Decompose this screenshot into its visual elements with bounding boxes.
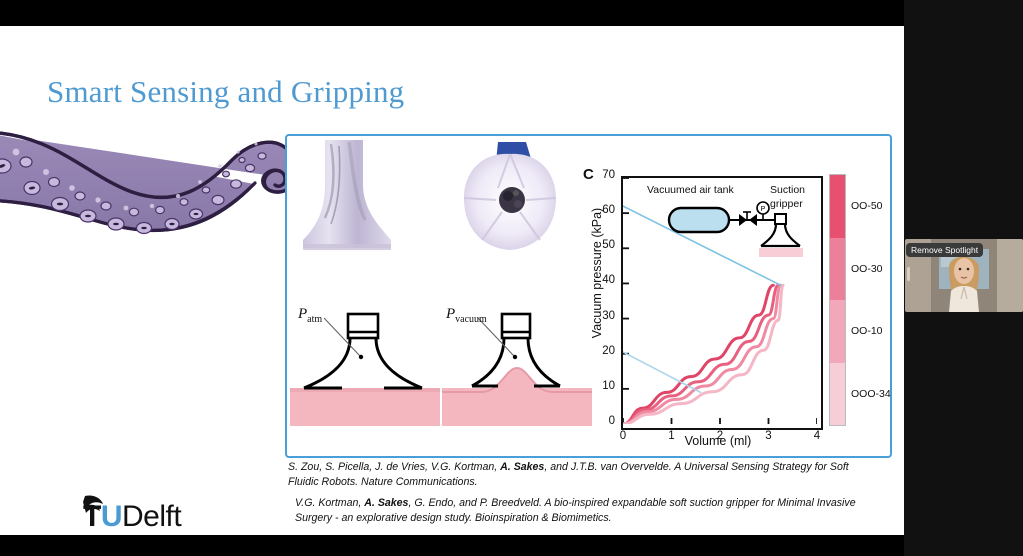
x-tick-label: 0 [616,430,630,442]
y-tick-label: 40 [595,274,615,286]
series-OO-50 [623,285,773,424]
y-tick-label: 70 [595,169,615,181]
citation-1: S. Zou, S. Picella, J. de Vries, V.G. Ko… [288,460,873,490]
colorbar-segment [830,300,845,363]
page-title: Smart Sensing and Gripping [47,74,404,110]
figure-panel: Patm Pvacuum [285,134,892,458]
logo-wordmark: TUDelft [83,500,181,534]
presentation-slide: Smart Sensing and Gripping [0,26,904,535]
x-tick-label: 1 [665,430,679,442]
suction-gripper-side-view [295,140,405,265]
citation-text: S. Zou, S. Picella, J. de Vries, V.G. Ko… [288,461,500,473]
colorbar-label: OO-50 [851,200,883,212]
citation-2: V.G. Kortman, A. Sakes, G. Endo, and P. … [295,496,875,526]
y-tick-label: 10 [595,380,615,392]
series-tank-discharge-line-lower [623,352,701,392]
octopus-tentacle-illustration [0,130,332,250]
gripper-atmospheric-schematic: Patm [290,306,440,426]
citation-author-highlight: A. Sakes [500,461,544,473]
vacuum-pressure-volume-chart: C Vacuum pressure (kPa) Volume (ml) 0102… [583,166,883,458]
gripper-vacuum-schematic: Pvacuum [442,306,592,426]
colorbar-segment [830,363,845,426]
p-atm-label: Patm [298,306,322,325]
tu-delft-logo: TUDelft [45,492,195,535]
tank-label: Vacuumed air tank [647,184,734,196]
series-OOO-34 [623,285,783,424]
colorbar-label: OO-30 [851,263,883,275]
colorbar-segment [830,175,845,238]
p-vacuum-label: Pvacuum [446,306,487,325]
citation-author-highlight: A. Sakes [364,497,408,509]
y-tick-label: 20 [595,345,615,357]
colorbar-segment [830,238,845,301]
colorbar [829,174,846,426]
y-tick-label: 0 [595,415,615,427]
colorbar-label: OO-10 [851,325,883,337]
logo-word-delft: Delft [122,500,181,533]
series-OO-30 [623,285,778,424]
inline-pneumatic-schematic: Vacuumed air tank Suction gripper P [647,184,817,262]
x-tick-label: 4 [810,430,824,442]
plot-area: Vacuumed air tank Suction gripper P [621,176,823,430]
y-tick-label: 30 [595,310,615,322]
logo-letter-t: T [83,500,101,533]
citation-text: V.G. Kortman, [295,497,364,509]
svg-text:P: P [761,206,766,213]
gripper-label-line1: Suction [770,184,805,196]
x-tick-label: 2 [713,430,727,442]
x-tick-label: 3 [762,430,776,442]
y-tick-label: 50 [595,239,615,251]
panel-label: C [583,166,594,183]
logo-letter-u: U [101,500,122,533]
letterbox-top [0,0,904,26]
meeting-screen-share-view: Smart Sensing and Gripping [0,0,1023,556]
suction-gripper-top-view [452,136,570,264]
letterbox-bottom [0,535,904,556]
colorbar-label: OOO-34 [851,388,891,400]
remove-spotlight-tooltip[interactable]: Remove Spotlight [906,243,983,257]
y-tick-label: 60 [595,204,615,216]
